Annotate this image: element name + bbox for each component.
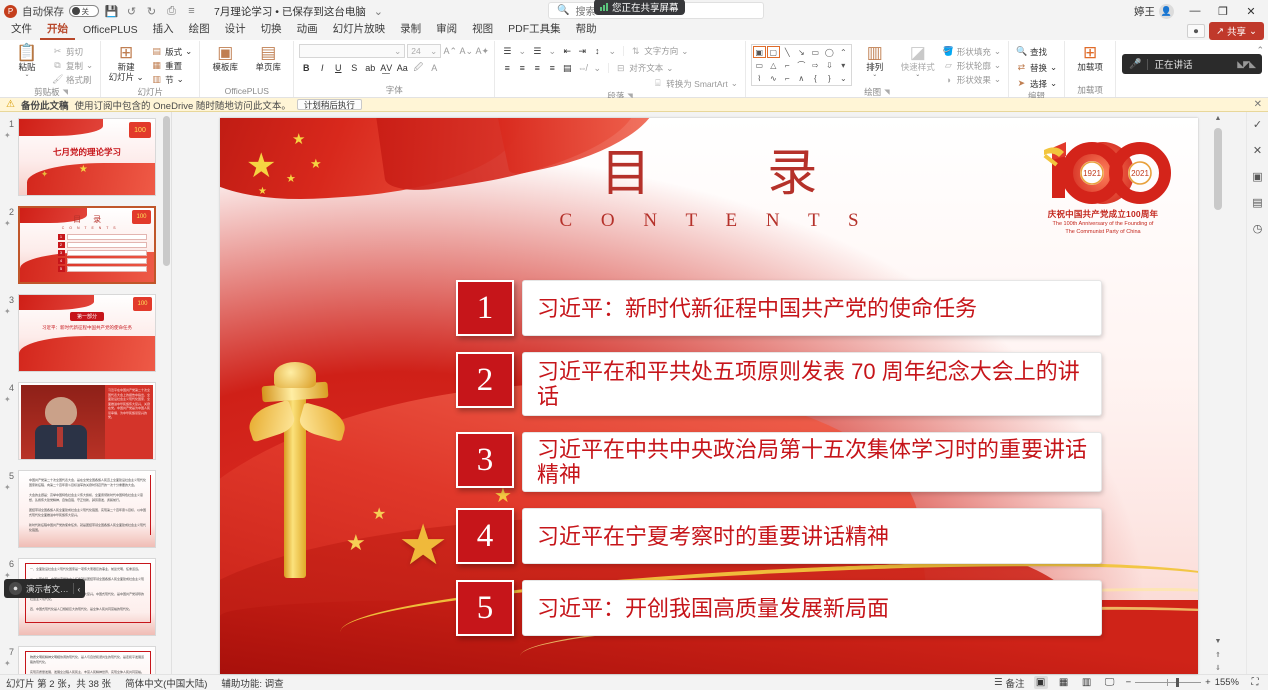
bold-button[interactable]: B: [299, 61, 313, 75]
thumbnail-number: 1✦: [4, 118, 14, 130]
logo-caption-en-2: The Communist Party of China: [1030, 229, 1176, 236]
tab-view[interactable]: 视图: [465, 20, 500, 40]
document-title[interactable]: 7月理论学习 • 已保存到这台电脑: [214, 4, 366, 19]
format-painter-button[interactable]: 🖌格式刷: [50, 73, 95, 86]
shape-fill-label: 形状填充: [957, 46, 991, 58]
item-text[interactable]: 习近平在宁夏考察时的重要讲话精神: [522, 508, 1102, 564]
autosave-label: 自动保存: [22, 4, 64, 19]
select-button[interactable]: ➤选择⌄: [1014, 77, 1059, 90]
scroll-up-icon[interactable]: ▲: [1213, 112, 1223, 125]
contents-item-3[interactable]: 3 习近平在中共中央政治局第十五次集体学习时的重要讲话精神: [456, 432, 1102, 492]
shape-rect-icon[interactable]: ▣: [753, 46, 766, 58]
thumb-section-badge: 第一部分: [70, 312, 104, 321]
thumbnail-slide-5[interactable]: 中国共产党第二十次全国代表大会，是在全党全国各族人民迈上全面建设社会主义现代化国…: [18, 470, 156, 548]
replace-icon: ⇄: [1016, 62, 1027, 73]
font-name-input[interactable]: ⌄: [299, 44, 405, 58]
font-size-input[interactable]: 24⌄: [407, 44, 441, 58]
font-color-icon[interactable]: A: [427, 61, 441, 75]
animations-icon[interactable]: ▤: [1250, 194, 1266, 210]
scissors-icon: ✂: [52, 46, 63, 57]
layout-button[interactable]: ▤版式⌄: [149, 45, 194, 58]
scrollbar-thumb[interactable]: [163, 116, 170, 266]
shape-outline-button[interactable]: ▱形状轮廓⌄: [941, 59, 1003, 72]
shape-effects-label: 形状效果: [957, 74, 991, 86]
normal-view-icon[interactable]: ▣: [1034, 676, 1048, 689]
clear-formatting-button[interactable]: A✦: [475, 44, 489, 58]
ribbon-group-clipboard: 📋 粘贴 ⌄ ✂剪切 ⧉复制⌄ 🖌格式刷 剪贴板◥: [2, 41, 101, 97]
notes-button[interactable]: ☰ 备注: [994, 676, 1025, 690]
paste-label: 粘贴: [18, 62, 35, 72]
more-commands-icon[interactable]: ≡: [184, 4, 199, 19]
zoom-control[interactable]: − + 155%: [1126, 677, 1239, 688]
align-text-label: 对齐文本: [629, 62, 663, 74]
screen-sharing-badge: 您正在共享屏幕: [594, 0, 685, 15]
chevron-down-icon[interactable]: ⌄: [590, 61, 604, 75]
thumb-section-text: 习近平：新时代新征程中国共产党的使命任务: [38, 324, 136, 331]
item-number: 5: [456, 580, 514, 636]
timing-icon[interactable]: ◷: [1250, 220, 1266, 236]
logo-caption-cn: 庆祝中国共产党成立100周年: [1030, 208, 1176, 220]
arrange-icon: ▥: [867, 44, 883, 62]
sharing-text: 您正在共享屏幕: [612, 0, 679, 14]
star-icon: ★: [346, 530, 366, 556]
font-label: 字体: [386, 84, 403, 96]
logo-year-start: 1921: [1083, 169, 1101, 178]
tab-animations[interactable]: 动画: [290, 20, 325, 40]
paste-icon: 📋: [16, 44, 37, 62]
avatar: 👤: [1159, 4, 1174, 19]
minimize-button[interactable]: —: [1182, 1, 1208, 21]
chevron-down-icon: ⌄: [994, 74, 1001, 85]
thumb-logo-2: 100: [132, 210, 151, 224]
template-library-button[interactable]: ▣ 模板库: [205, 44, 245, 72]
star-icon: ✦: [41, 169, 49, 180]
star-icon: ★: [79, 164, 88, 175]
change-case-button[interactable]: Aa: [395, 61, 409, 75]
section-icon: ▥: [151, 74, 162, 85]
shape-fill-icon: 🪣: [943, 46, 954, 57]
shape-fill-button[interactable]: 🪣形状填充⌄: [941, 45, 1003, 58]
record-button[interactable]: ⏺: [1187, 24, 1205, 38]
cut-button[interactable]: ✂剪切: [50, 45, 95, 58]
waveform-icon: ◣◤◣: [1237, 59, 1255, 70]
thumbnail-row[interactable]: 2✦ 目 录 C O N T E N T S 100 1 2 3 4: [0, 206, 171, 294]
thumbnail-row[interactable]: 3✦ 第一部分 习近平：新时代新征程中国共产党的使命任务 100: [0, 294, 171, 382]
shape-brace-left-icon[interactable]: {: [809, 72, 822, 84]
scrollbar-thumb[interactable]: [1214, 128, 1222, 210]
tab-officeplus[interactable]: OfficePLUS: [76, 23, 145, 40]
select-label: 选择: [1030, 78, 1047, 90]
dialog-launcher-icon[interactable]: ◥: [884, 88, 889, 96]
share-button[interactable]: ↗ 共享 ⌄: [1209, 22, 1264, 40]
chevron-down-icon: ⌄: [86, 60, 93, 71]
tab-help[interactable]: 帮助: [569, 20, 604, 40]
anniversary-logo: 1921 2021 庆祝中国共产党成立100周年 The 100th Anniv…: [1030, 140, 1176, 236]
ribbon: 📋 粘贴 ⌄ ✂剪切 ⧉复制⌄ 🖌格式刷 剪贴板◥ ⊞ 新建幻灯片 ⌄: [0, 40, 1268, 98]
thumb-num-6: 6: [9, 559, 14, 569]
toggle-knob: [72, 7, 80, 15]
designer-icon[interactable]: ▣: [1250, 168, 1266, 184]
zoom-slider-knob[interactable]: [1176, 678, 1179, 687]
thumbnail-number: 2✦: [4, 206, 14, 218]
speaking-overlay[interactable]: 🎤 正在讲话 ◣◤◣: [1122, 54, 1262, 74]
close-icon[interactable]: ✕: [1250, 142, 1266, 158]
align-center-icon[interactable]: ≡: [515, 61, 529, 75]
ribbon-group-font: ⌄ 24⌄ A⌃ A⌄ A✦ B I U S ab A͟V Aa 🖉 A: [294, 41, 495, 97]
shape-curve-icon[interactable]: ⌒: [795, 59, 808, 71]
item-text[interactable]: 习近平：新时代新征程中国共产党的使命任务: [522, 280, 1102, 336]
thumbnail-number: 3✦: [4, 294, 14, 306]
tab-slideshow[interactable]: 幻灯片放映: [326, 20, 393, 40]
shape-rect2-icon[interactable]: ▭: [753, 59, 766, 71]
chevron-down-icon[interactable]: ⌄: [545, 44, 559, 58]
accessibility-label[interactable]: 辅助功能: 调查: [221, 676, 283, 690]
main-area: 1✦ 七月党的理论学习 100 ★ ✦ 2✦: [0, 112, 1268, 674]
contents-item-2[interactable]: 2 习近平在和平共处五项原则发表 70 周年纪念大会上的讲话: [456, 352, 1102, 416]
text-direction-button[interactable]: ⇅文字方向⌄: [628, 45, 690, 58]
chevron-down-icon: ⌄: [872, 72, 877, 78]
new-slide-button[interactable]: ⊞ 新建幻灯片 ⌄: [106, 44, 146, 82]
thumbnail-slide-2[interactable]: 目 录 C O N T E N T S 100 1 2 3 4 5: [18, 206, 156, 284]
shape-freeform-icon[interactable]: ⌇: [753, 72, 766, 84]
thumb-num-1: 1: [9, 119, 14, 129]
scroll-down-icon[interactable]: ▼: [1213, 635, 1223, 648]
zoom-out-button[interactable]: −: [1126, 677, 1132, 688]
strikethrough-button[interactable]: S: [347, 61, 361, 75]
star-icon: ★: [372, 504, 386, 524]
smartart-icon: ⌸: [652, 78, 663, 89]
shape-corner-icon[interactable]: ⌐: [781, 59, 794, 71]
dialog-launcher-icon[interactable]: ◥: [63, 88, 68, 96]
new-slide-label: 新建幻灯片 ⌄: [109, 62, 144, 82]
ribbon-group-paragraph: ☰⌄ ☰⌄ ⇤ ⇥ ↕⌄ ⇅文字方向⌄ ≡ ≡ ≡ ≡ ▤ ⇎⌄ ⊟对齐文本⌄: [495, 41, 746, 97]
item-number: 2: [456, 352, 514, 408]
convert-smartart-button[interactable]: ⌸转换为 SmartArt⌄: [650, 77, 740, 90]
tab-home[interactable]: 开始: [40, 20, 75, 40]
search-icon: 🔍: [557, 5, 569, 16]
shape-scroll-icon[interactable]: ▾: [837, 59, 850, 71]
ribbon-group-addins: ⊞ 加载项 加载项: [1065, 41, 1116, 97]
ribbon-group-editing: 🔍查找 ⇄替换⌄ ➤选择⌄ 编辑: [1009, 41, 1065, 97]
shape-down-arrow-icon[interactable]: ⇩: [823, 59, 836, 71]
layout-icon: ▤: [151, 46, 162, 57]
text-direction-icon: ⇅: [630, 46, 641, 57]
current-slide[interactable]: ★ ★ ★ ★ ★: [220, 118, 1198, 674]
columns-icon[interactable]: ▤: [560, 61, 574, 75]
quick-styles-icon: ◪: [910, 44, 926, 62]
account-name: 婷王: [1134, 4, 1155, 19]
shape-outline-icon: ▱: [943, 60, 954, 71]
numbering-icon[interactable]: ☰: [530, 44, 544, 58]
chevron-down-icon: ⌄: [666, 63, 673, 74]
status-bar: 幻灯片 第 2 张，共 38 张 简体中文(中国大陆) 辅助功能: 调查 ☰ 备…: [0, 674, 1268, 690]
animation-star-icon: ✦: [4, 130, 11, 141]
thumbnail-slide-1[interactable]: 七月党的理论学习 100 ★ ✦: [18, 118, 156, 196]
status-right: ☰ 备注 ▣ ▦ ▥ 🖵 − + 155% ⛶: [994, 676, 1262, 690]
slides-label: 幻灯片: [137, 86, 163, 98]
clipboard-label: 剪贴板: [34, 86, 60, 98]
thumbnail-number: 5✦: [4, 470, 14, 482]
text-columns-icon[interactable]: ⇎: [575, 61, 589, 75]
tab-insert[interactable]: 插入: [146, 20, 181, 40]
slide-vertical-scrollbar[interactable]: ▲ ▼ ⇑ ⇓: [1213, 112, 1223, 674]
divider: [1147, 59, 1148, 70]
format-painter-label: 格式刷: [66, 74, 92, 86]
quick-styles-button[interactable]: ◪ 快速样式 ⌄: [898, 44, 938, 78]
slide-editing-area[interactable]: ★ ★ ★ ★ ★: [172, 112, 1246, 674]
check-icon[interactable]: ✓: [1250, 116, 1266, 132]
record-icon[interactable]: ⏺: [9, 582, 22, 595]
thumbnail-slide-3[interactable]: 第一部分 习近平：新时代新征程中国共产党的使命任务 100: [18, 294, 156, 372]
thumb-logo-3: 100: [133, 297, 152, 311]
align-text-button[interactable]: ⊟对齐文本⌄: [613, 62, 675, 75]
tab-transitions[interactable]: 切换: [254, 20, 289, 40]
cut-label: 剪切: [66, 46, 83, 58]
chevron-down-icon: ⌄: [24, 72, 29, 78]
animation-star-icon: ✦: [4, 394, 11, 405]
align-text-icon: ⊟: [615, 63, 626, 74]
thumbnail-slide-7[interactable]: 物质文明和精神文明相协调的现代化，是人与自然和谐共生的现代化，是走和平发展道路的…: [18, 646, 156, 674]
thumbnail-scrollbar[interactable]: [162, 112, 171, 674]
chevron-down-icon: ⌄: [681, 46, 688, 57]
tab-pdf-tools[interactable]: PDF工具集: [501, 20, 568, 40]
share-icon: ↗: [1216, 26, 1224, 37]
shape-banner-icon[interactable]: ⇨: [809, 59, 822, 71]
restore-button[interactable]: ❐: [1210, 1, 1236, 21]
thumb-title-1: 七月党的理论学习: [53, 146, 121, 158]
logo-caption-en-1: The 100th Anniversary of the Founding of: [1030, 221, 1176, 228]
group-label-font: 字体: [386, 84, 403, 97]
star-icon: ★: [398, 512, 448, 578]
ribbon-group-slides: ⊞ 新建幻灯片 ⌄ ▤版式⌄ ▦重置 ▥节⌄ 幻灯片: [101, 41, 200, 97]
contents-list: 1 习近平：新时代新征程中国共产党的使命任务 2 习近平在和平共处五项原则发表 …: [456, 280, 1102, 652]
zoom-slider[interactable]: [1135, 682, 1201, 683]
underline-button[interactable]: U: [331, 61, 345, 75]
chevron-down-icon[interactable]: ⌄: [605, 44, 619, 58]
slide-thumbnail-panel[interactable]: 1✦ 七月党的理论学习 100 ★ ✦ 2✦: [0, 112, 172, 674]
chevron-right-icon[interactable]: ‹: [78, 584, 81, 594]
backup-message-bar: ⚠ 备份此文稿 使用订阅中包含的 OneDrive 随时随地访问此文本。 计划稍…: [0, 98, 1268, 112]
find-icon: 🔍: [1016, 46, 1027, 57]
language-label[interactable]: 简体中文(中国大陆): [125, 676, 207, 690]
shape-brace-right-icon[interactable]: }: [823, 72, 836, 84]
align-left-icon[interactable]: ≡: [500, 61, 514, 75]
right-task-rail: ✓ ✕ ▣ ▤ ◷: [1246, 112, 1268, 674]
officeplus-label: OfficePLUS: [225, 86, 269, 96]
thumb-heading-en-2: C O N T E N T S: [62, 226, 118, 230]
chevron-down-icon: ⌄: [1050, 62, 1057, 73]
undo-icon[interactable]: ↺: [124, 4, 139, 19]
close-icon[interactable]: ✕: [1254, 99, 1262, 110]
bullets-icon[interactable]: ☰: [500, 44, 514, 58]
item-text[interactable]: 习近平：开创我国高质量发展新局面: [522, 580, 1102, 636]
layout-label: 版式: [165, 46, 182, 58]
tab-file[interactable]: 文件: [4, 20, 39, 40]
find-button[interactable]: 🔍查找: [1014, 45, 1059, 58]
thumbnail-row[interactable]: 4✦ 习近平在中国共产党第二十次全国代表大会上的报告中指出，全面建设社会主义现代…: [0, 382, 171, 470]
shape-outline-label: 形状轮廓: [957, 60, 991, 72]
warning-icon: ⚠: [6, 99, 15, 110]
format-painter-icon: 🖌: [52, 74, 63, 85]
shape-line-icon[interactable]: ╲: [781, 46, 794, 58]
character-spacing-button[interactable]: A͟V: [379, 61, 393, 75]
contents-item-1[interactable]: 1 习近平：新时代新征程中国共产党的使命任务: [456, 280, 1102, 336]
animation-star-icon: ✦: [4, 658, 11, 669]
tab-design[interactable]: 设计: [218, 20, 253, 40]
chevron-down-icon: ⌄: [731, 78, 738, 89]
ribbon-group-officeplus: ▣ 模板库 ▤ 单页库 OfficePLUS: [200, 41, 294, 97]
chevron-down-icon: ⌄: [994, 60, 1001, 71]
decrease-indent-icon[interactable]: ⇤: [560, 44, 574, 58]
thumb-num-2: 2: [9, 207, 14, 217]
message-bold-text: 备份此文稿: [21, 98, 69, 112]
autosave-toggle[interactable]: 关: [69, 5, 99, 17]
start-presentation-icon[interactable]: ⎙: [164, 4, 179, 19]
thumbnail-number: 4✦: [4, 382, 14, 394]
logo-mark: 1921 2021: [1030, 140, 1176, 206]
contents-item-4[interactable]: 4 习近平在宁夏考察时的重要讲话精神: [456, 508, 1102, 564]
increase-indent-icon[interactable]: ⇥: [575, 44, 589, 58]
notes-icon: ☰: [994, 677, 1003, 688]
slide-count-label[interactable]: 幻灯片 第 2 张，共 38 张: [6, 676, 111, 690]
item-number: 1: [456, 280, 514, 336]
thumbnail-row[interactable]: 1✦ 七月党的理论学习 100 ★ ✦: [0, 118, 171, 206]
item-text[interactable]: 习近平在中共中央政治局第十五次集体学习时的重要讲话精神: [522, 432, 1102, 492]
arrange-button[interactable]: ▥ 排列 ⌄: [855, 44, 895, 78]
shape-more-icon[interactable]: ⌃: [837, 46, 850, 58]
share-label: 共享: [1227, 24, 1246, 38]
thumbnail-row[interactable]: 6✦ 一、全面建设社会主义现代化国家是一项伟大而艰巨的事业，前途光明，任重道远。…: [0, 558, 171, 646]
fit-to-window-icon[interactable]: ⛶: [1248, 676, 1262, 689]
search-placeholder: 搜索: [575, 3, 595, 18]
shape-triangle-icon[interactable]: △: [767, 59, 780, 71]
addins-label: 加载项: [1077, 62, 1103, 72]
group-label-officeplus: OfficePLUS: [225, 86, 269, 97]
shape-rounded-icon[interactable]: ▢: [767, 46, 780, 58]
shape-effects-button[interactable]: ◑形状效果⌄: [941, 73, 1003, 86]
zoom-midpoint: [1167, 679, 1168, 686]
shape-scribble-icon[interactable]: ∿: [767, 72, 780, 84]
message-text: 使用订阅中包含的 OneDrive 随时随地访问此文本。: [74, 98, 290, 112]
shape-effects-icon: ◑: [943, 75, 954, 85]
thumbnail-row[interactable]: 5✦ 中国共产党第二十次全国代表大会，是在全党全国各族人民迈上全面建设社会主义现…: [0, 470, 171, 558]
account-chip[interactable]: 婷王 👤: [1134, 4, 1174, 19]
addins-icon: ⊞: [1083, 44, 1097, 62]
chevron-down-icon: ⌄: [994, 46, 1001, 57]
text-highlight-icon[interactable]: 🖉: [411, 61, 425, 75]
line-spacing-icon[interactable]: ↕: [590, 44, 604, 58]
chevron-down-icon: ⌄: [185, 46, 192, 57]
slideshow-icon[interactable]: 🖵: [1103, 676, 1117, 689]
template-library-label: 模板库: [213, 62, 239, 72]
font-size-value: 24: [411, 46, 420, 56]
animation-star-icon: ✦: [4, 218, 11, 229]
ribbon-tabs: 文件 开始 OfficePLUS 插入 绘图 设计 切换 动画 幻灯片放映 录制…: [0, 22, 1268, 40]
single-page-library-button[interactable]: ▤ 单页库: [248, 44, 288, 72]
italic-button[interactable]: I: [315, 61, 329, 75]
powerpoint-logo-icon: P: [4, 5, 17, 18]
addins-button[interactable]: ⊞ 加载项: [1070, 44, 1110, 72]
align-right-icon[interactable]: ≡: [530, 61, 544, 75]
section-label: 节: [165, 74, 174, 86]
save-icon[interactable]: 💾: [104, 4, 119, 19]
single-page-library-label: 单页库: [256, 62, 282, 72]
powerpoint-window: P 自动保存 关 💾 ↺ ↻ ⎙ ≡ 7月理论学习 • 已保存到这台电脑 ⌄ 🔍…: [0, 0, 1268, 690]
shape-connector-icon[interactable]: ⌐: [781, 72, 794, 84]
shape-arrow-icon[interactable]: ↘: [795, 46, 808, 58]
shapes-gallery[interactable]: ▣▢ ╲↘ ▭◯ ⌃ ▭△ ⌐⌒ ⇨⇩ ▾ ⌇∿ ⌐∧ {} ⌄: [751, 44, 852, 86]
tab-draw[interactable]: 绘图: [182, 20, 217, 40]
reading-view-icon[interactable]: ▥: [1080, 676, 1094, 689]
zoom-in-button[interactable]: +: [1205, 677, 1211, 688]
thumbnail-number: 7✦: [4, 646, 14, 658]
tab-review[interactable]: 审阅: [429, 20, 464, 40]
presenter-mini-toolbar[interactable]: ⏺ 演示者文… ‹: [4, 579, 85, 598]
chevron-down-icon[interactable]: ⌄: [515, 44, 529, 58]
chevron-down-icon: ⌄: [394, 46, 401, 57]
addins-group-label: 加载项: [1077, 84, 1103, 96]
text-shadow-button[interactable]: ab: [363, 61, 377, 75]
thumbnail-number: 6✦: [4, 558, 14, 570]
reset-button[interactable]: ▦重置: [149, 59, 194, 72]
quick-access-toolbar: P 自动保存 关 💾 ↺ ↻ ⎙ ≡ 7月理论学习 • 已保存到这台电脑 ⌄: [4, 4, 386, 19]
thumbnail-row[interactable]: 7✦ 物质文明和精神文明相协调的现代化，是人与自然和谐共生的现代化，是走和平发展…: [0, 646, 171, 674]
speaking-text: 正在讲话: [1154, 57, 1192, 71]
shape-oval-icon[interactable]: ◯: [823, 46, 836, 58]
slide-sorter-icon[interactable]: ▦: [1057, 676, 1071, 689]
schedule-later-button[interactable]: 计划稍后执行: [297, 99, 362, 110]
increase-font-size-button[interactable]: A⌃: [443, 44, 457, 58]
divider: [73, 583, 74, 594]
section-button[interactable]: ▥节⌄: [149, 73, 194, 86]
tab-record[interactable]: 录制: [393, 20, 428, 40]
paste-button[interactable]: 📋 粘贴 ⌄: [7, 44, 47, 78]
contents-item-5[interactable]: 5 习近平：开创我国高质量发展新局面: [456, 580, 1102, 636]
decrease-font-size-button[interactable]: A⌄: [459, 44, 473, 58]
copy-button[interactable]: ⧉复制⌄: [50, 59, 95, 72]
shape-gallery-more-icon[interactable]: ⌄: [837, 72, 850, 84]
thumbnail-slide-4[interactable]: 习近平在中国共产党第二十次全国代表大会上的报告中指出，全面建设社会主义现代化国家…: [18, 382, 156, 460]
justify-icon[interactable]: ≡: [545, 61, 559, 75]
previous-slide-icon[interactable]: ⇑: [1213, 648, 1223, 661]
next-slide-icon[interactable]: ⇓: [1213, 661, 1223, 674]
reset-icon: ▦: [151, 60, 162, 71]
thumb-heading-2: 目 录: [73, 214, 106, 225]
animation-star-icon: ✦: [4, 306, 11, 317]
signal-bars-icon: [600, 3, 608, 11]
animation-star-icon: ✦: [4, 482, 11, 493]
chevron-down-icon: ⌄: [430, 46, 437, 57]
chevron-down-icon: ⌄: [1050, 78, 1057, 89]
ribbon-right-actions: ⏺ ↗ 共享 ⌄: [1187, 22, 1268, 40]
autosave-state: 关: [82, 6, 90, 17]
item-number: 3: [456, 432, 514, 488]
new-slide-icon: ⊞: [119, 44, 133, 62]
item-text[interactable]: 习近平在和平共处五项原则发表 70 周年纪念大会上的讲话: [522, 352, 1102, 416]
zoom-level-label[interactable]: 155%: [1215, 677, 1239, 688]
shape-angle-icon[interactable]: ∧: [795, 72, 808, 84]
microphone-icon[interactable]: 🎤: [1129, 59, 1141, 70]
logo-year-end: 2021: [1131, 169, 1149, 178]
replace-button[interactable]: ⇄替换⌄: [1014, 61, 1059, 74]
redo-icon[interactable]: ↻: [144, 4, 159, 19]
drawing-label: 绘图: [864, 86, 881, 98]
group-label-addins: 加载项: [1077, 84, 1103, 97]
chevron-down-icon[interactable]: ⌄: [371, 4, 386, 19]
reset-label: 重置: [165, 60, 182, 72]
shape-square-icon[interactable]: ▭: [809, 46, 822, 58]
close-button[interactable]: ✕: [1238, 1, 1264, 21]
